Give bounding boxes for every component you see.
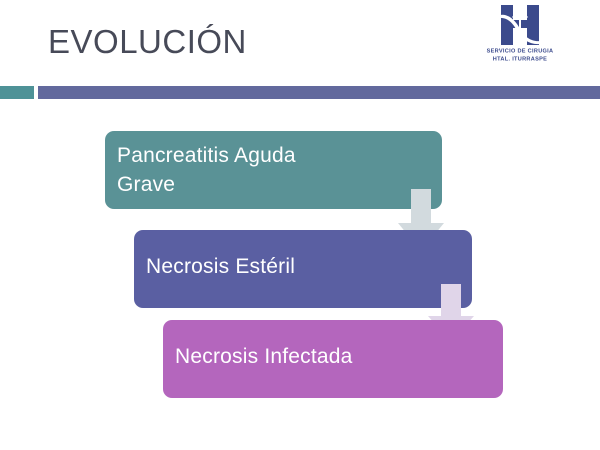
hospital-logo-caption: SERVICIO DE CIRUGIA HTAL. ITURRASPE [477,48,564,65]
flow-box-label: Necrosis Estéril [146,252,472,281]
flow-box-label: Necrosis Infectada [175,342,503,371]
page-title: EVOLUCIÓN [48,20,247,64]
flow-box-necrosis-infectada: Necrosis Infectada [163,320,503,398]
hospital-logo: SERVICIO DE CIRUGIA HTAL. ITURRASPE [492,3,548,69]
flow-box-necrosis-esteril: Necrosis Estéril [134,230,472,308]
caduceus-swoosh-icon [498,11,542,45]
divider-accent-block [0,86,34,99]
presentation-slide: EVOLUCIÓN SERVICIO DE CIRUGIA HTAL. ITUR… [0,0,600,450]
flow-box-label: Pancreatitis Aguda Grave [117,141,442,199]
divider-bar [38,86,600,99]
logo-caption-line-1: SERVICIO DE CIRUGIA [477,48,564,56]
hospital-logo-icon [496,3,544,47]
flow-box-pancreatitis-aguda-grave: Pancreatitis Aguda Grave [105,131,442,209]
logo-caption-line-2: HTAL. ITURRASPE [477,56,564,64]
